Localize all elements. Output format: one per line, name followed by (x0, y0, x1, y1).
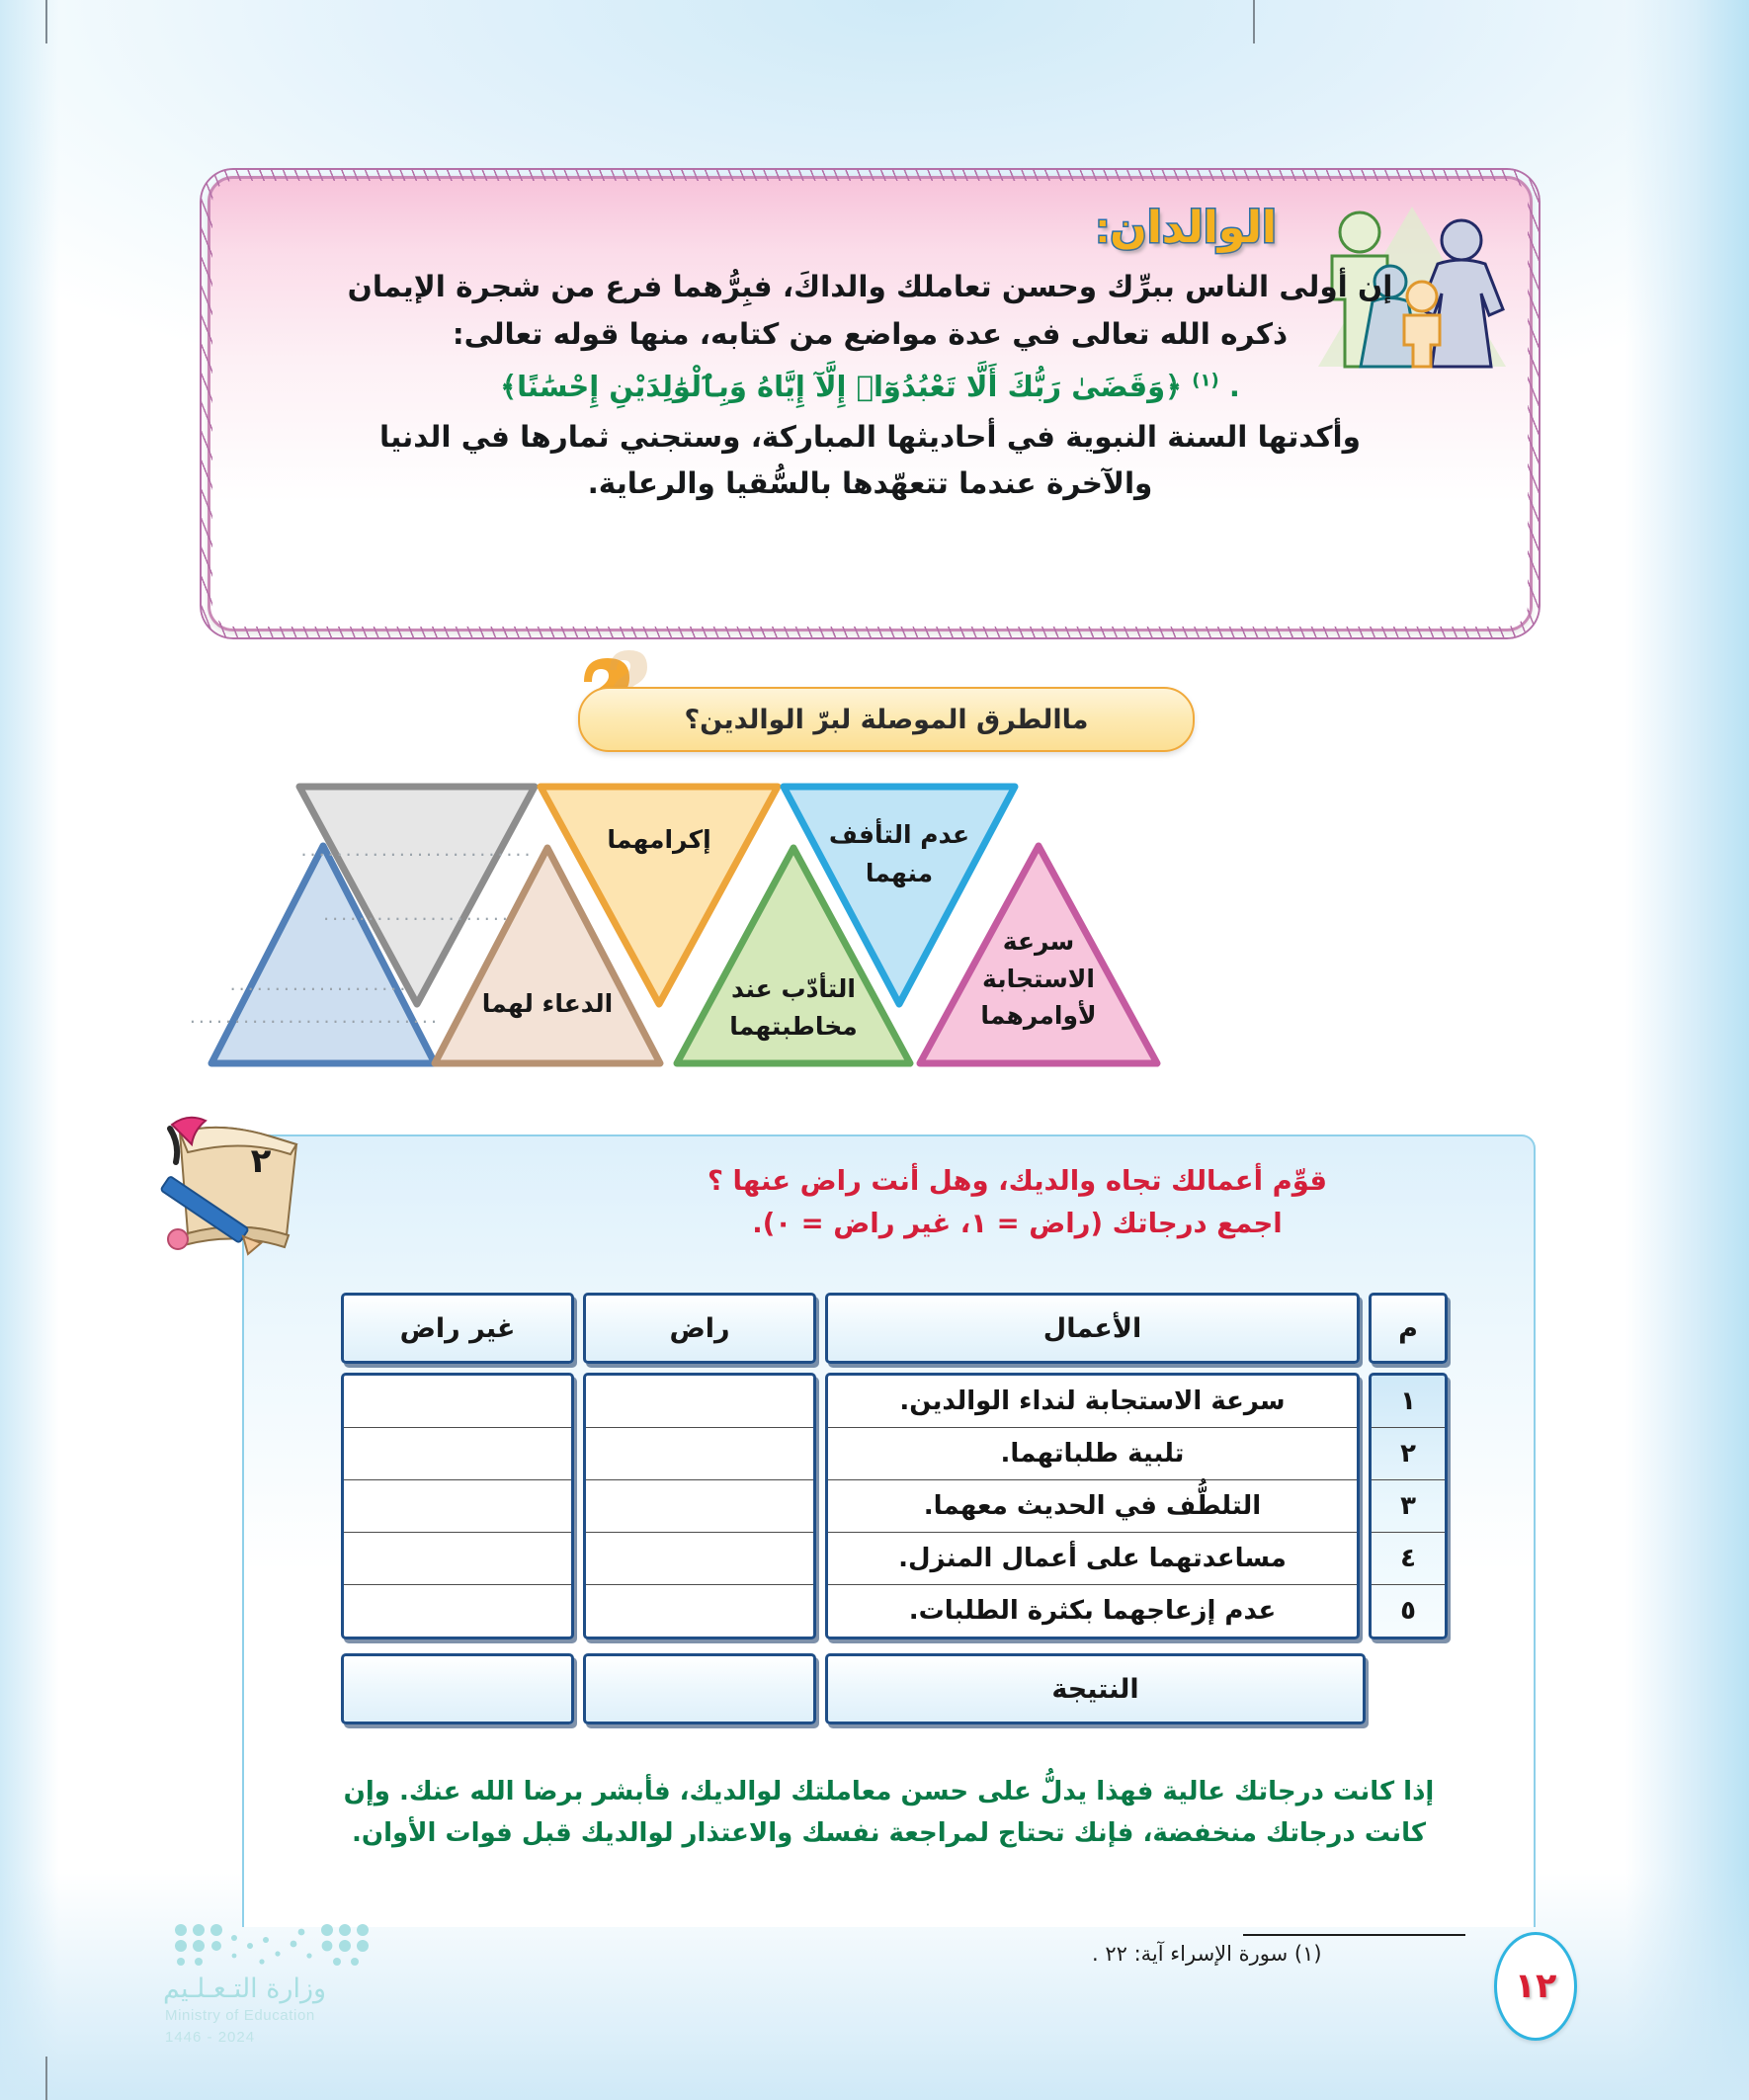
table-result-row: النتيجة (341, 1653, 1448, 1724)
intro-paragraph: إن أولى الناس ببرِّك وحسن تعاملك والداكَ… (250, 264, 1490, 508)
crop-mark-bottom-left (45, 2057, 47, 2100)
checkbox-satisfied-4[interactable] (586, 1533, 813, 1585)
column-unsatisfied[interactable] (341, 1373, 574, 1639)
conclusion-line-1: إذا كانت درجاتك عالية فهذا يدلُّ على حسن… (344, 1777, 1435, 1806)
activity-section: ٢ قوِّم أعمالك تجاه والديك، وهل أنت راض … (242, 1134, 1536, 1927)
row-action-5: عدم إزعاجهما بكثرة الطلبات. (828, 1585, 1357, 1637)
column-actions: سرعة الاستجابة لنداء الوالدين. تلبية طلب… (825, 1373, 1360, 1639)
row-number-2: ٢ (1372, 1428, 1445, 1480)
self-assessment-table: م الأعمال راض غير راض ١ ٢ ٣ ٤ ٥ سرعة الا… (341, 1293, 1448, 1724)
result-satisfied-total[interactable] (583, 1653, 816, 1724)
row-number-5: ٥ (1372, 1585, 1445, 1637)
result-unsatisfied-total[interactable] (341, 1653, 574, 1724)
page-background: الوالدان: إن أولى الناس ببرِّك وحسن تعام… (0, 0, 1749, 2100)
row-action-4: مساعدتهما على أعمال المنزل. (828, 1533, 1357, 1585)
intro-line-4: والآخرة عندما تتعهّدها بالسُّقيا والرعاي… (250, 461, 1490, 508)
row-number-4: ٤ (1372, 1533, 1445, 1585)
ministry-of-education-logo: وزارة التـعـلـيم Ministry of Education 2… (163, 1922, 420, 2041)
moe-dots-icon (163, 1922, 420, 1974)
page-number-badge: ١٢ (1494, 1932, 1577, 2041)
footnote-text: (١) سورة الإسراء آية: ٢٢ . (1092, 1942, 1467, 1966)
question-banner: ماالطرق الموصلة لبرّ الوالدين؟ (578, 687, 1195, 752)
verse-text: ﴿وَقَضَىٰ رَبُّكَ أَلَّا تَعْبُدُوٓا۟ إِ… (500, 370, 1182, 403)
intro-line-1: إن أولى الناس ببرِّك وحسن تعاملك والداكَ… (250, 264, 1490, 311)
conclusion-line-2: كانت درجاتك منخفضة، فإنك تحتاج لمراجعة ن… (352, 1818, 1426, 1848)
row-number-1: ١ (1372, 1376, 1445, 1428)
activity-question-line-1: قوِّم أعمالك تجاه والديك، وهل أنت راض عن… (708, 1165, 1327, 1197)
triangle-suraa: سرعةالاستجابةلأوامرهما (915, 840, 1162, 1069)
checkbox-unsatisfied-3[interactable] (344, 1480, 571, 1533)
crop-mark-top-right (1253, 0, 1255, 43)
row-action-2: تلبية طلباتهما. (828, 1428, 1357, 1480)
svg-text:٢: ٢ (251, 1141, 272, 1181)
checkbox-unsatisfied-4[interactable] (344, 1533, 571, 1585)
right-color-band (1625, 0, 1749, 2100)
parents-intro-box: الوالدان: إن أولى الناس ببرِّك وحسن تعام… (208, 176, 1533, 631)
header-cell-unsatisfied: غير راض (341, 1293, 574, 1364)
checkbox-satisfied-5[interactable] (586, 1585, 813, 1637)
checkbox-satisfied-2[interactable] (586, 1428, 813, 1480)
row-action-1: سرعة الاستجابة لنداء الوالدين. (828, 1376, 1357, 1428)
column-numbers: ١ ٢ ٣ ٤ ٥ (1369, 1373, 1448, 1639)
ministry-name-english: Ministry of Education (165, 2007, 315, 2024)
result-label: النتيجة (825, 1653, 1366, 1724)
header-cell-actions: الأعمال (825, 1293, 1360, 1364)
table-header-row: م الأعمال راض غير راض (341, 1293, 1448, 1364)
left-color-band (0, 0, 59, 2100)
header-cell-satisfied: راض (583, 1293, 816, 1364)
activity-question-line-2: اجمع درجاتك (راض = ١، غير راض = ٠). (752, 1208, 1282, 1239)
checkbox-satisfied-1[interactable] (586, 1376, 813, 1428)
row-action-3: التلطُّف ﻓﻲ الحديث معهما. (828, 1480, 1357, 1533)
ministry-years: 2024 - 1446 (165, 2029, 255, 2046)
table-body: ١ ٢ ٣ ٤ ٥ سرعة الاستجابة لنداء الوالدين.… (341, 1373, 1448, 1639)
page-number-value: ١٢ (1515, 1967, 1557, 2006)
verse-footnote-marker: (١) (1192, 370, 1218, 390)
column-satisfied[interactable] (583, 1373, 816, 1639)
footnote-rule (1243, 1934, 1465, 1936)
activity-question: قوِّم أعمالك تجاه والديك، وهل أنت راض عن… (541, 1160, 1494, 1244)
verse-period: . (1229, 370, 1240, 403)
checkbox-unsatisfied-1[interactable] (344, 1376, 571, 1428)
page-title: الوالدان: (1096, 203, 1278, 253)
header-cell-number: م (1369, 1293, 1448, 1364)
checkbox-satisfied-3[interactable] (586, 1480, 813, 1533)
ministry-name-arabic: وزارة التـعـلـيم (163, 1974, 326, 2004)
notebook-pencil-icon: ٢ (150, 1115, 328, 1263)
ways-triangles-group: ........................................… (208, 781, 1532, 1117)
checkbox-unsatisfied-5[interactable] (344, 1585, 571, 1637)
quran-verse: . (١) ﴿وَقَضَىٰ رَبُّكَ أَلَّا تَعْبُدُو… (250, 364, 1490, 410)
checkbox-unsatisfied-2[interactable] (344, 1428, 571, 1480)
activity-conclusion: إذا كانت درجاتك عالية فهذا يدلُّ على حسن… (288, 1771, 1490, 1854)
crop-mark-top-left (45, 0, 47, 43)
row-number-3: ٣ (1372, 1480, 1445, 1533)
intro-line-2: ذكره الله تعالى في عدة مواضع من كتابه، م… (250, 311, 1490, 359)
intro-line-3: وأكدتها السنة النبوية في أحاديثها المبار… (250, 414, 1490, 462)
question-banner-text: ماالطرق الموصلة لبرّ الوالدين؟ (685, 705, 1089, 735)
result-row-spacer (1374, 1653, 1448, 1724)
